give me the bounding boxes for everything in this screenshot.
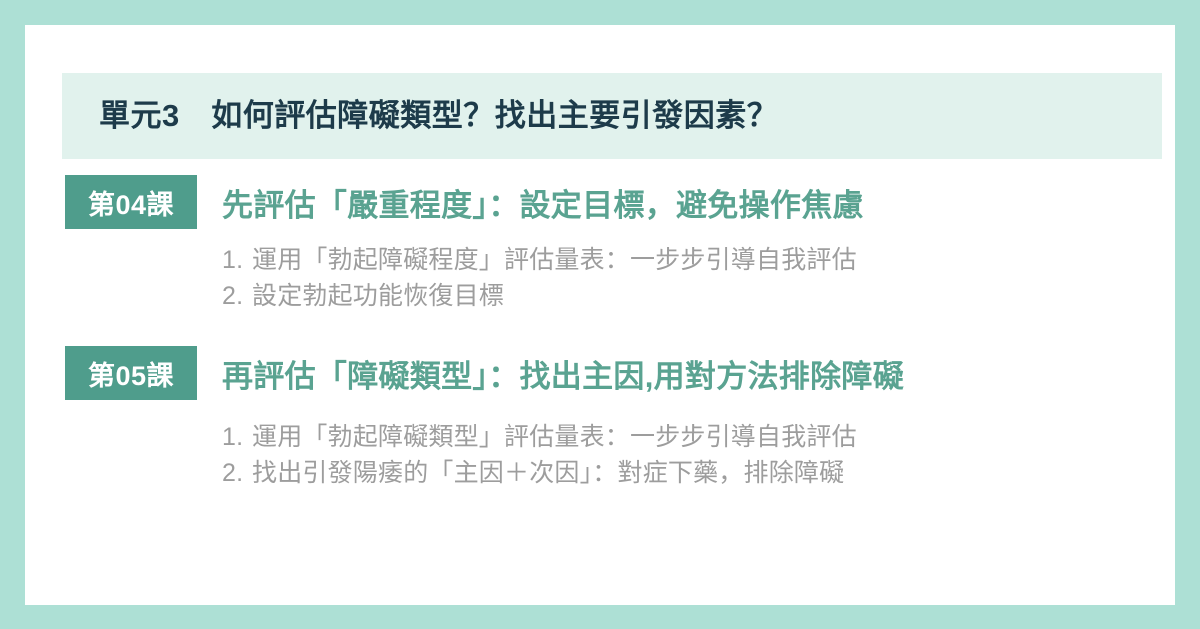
lesson-header-04: 第04課 先評估「嚴重程度」：設定目標，避免操作焦慮 <box>25 175 1175 229</box>
unit-header-band: 單元3 如何評估障礙類型？找出主要引發因素？ <box>62 73 1162 159</box>
lesson-header-05: 第05課 再評估「障礙類型」：找出主因,用對方法排除障礙 <box>25 346 1175 400</box>
list-item-text: 設定勃起功能恢復目標 <box>252 282 504 310</box>
page-title: 單元3 如何評估障礙類型？找出主要引發因素？ <box>62 99 778 133</box>
content-card: 單元3 如何評估障礙類型？找出主要引發因素？ 第04課 先評估「嚴重程度」：設定… <box>25 25 1175 605</box>
list-item-number: 2. <box>222 456 252 492</box>
list-item-number: 1. <box>222 420 252 456</box>
list-item: 1.運用「勃起障礙類型」評估量表：一步步引導自我評估 <box>222 420 1175 456</box>
list-item-text: 運用「勃起障礙類型」評估量表：一步步引導自我評估 <box>252 423 857 451</box>
lesson-block-05: 第05課 再評估「障礙類型」：找出主因,用對方法排除障礙 1.運用「勃起障礙類型… <box>25 346 1175 491</box>
page-frame: 單元3 如何評估障礙類型？找出主要引發因素？ 第04課 先評估「嚴重程度」：設定… <box>0 0 1200 629</box>
list-item: 2.設定勃起功能恢復目標 <box>222 279 1175 315</box>
lesson-badge-05[interactable]: 第05課 <box>65 346 197 400</box>
lesson-badge-04[interactable]: 第04課 <box>65 175 197 229</box>
list-item: 2.找出引發陽痿的「主因＋次因」：對症下藥，排除障礙 <box>222 456 1175 492</box>
list-item: 1.運用「勃起障礙程度」評估量表：一步步引導自我評估 <box>222 243 1175 279</box>
lesson-block-04: 第04課 先評估「嚴重程度」：設定目標，避免操作焦慮 1.運用「勃起障礙程度」評… <box>25 175 1175 314</box>
list-item-number: 1. <box>222 243 252 279</box>
list-item-text: 運用「勃起障礙程度」評估量表：一步步引導自我評估 <box>252 246 857 274</box>
lesson-title-05[interactable]: 再評估「障礙類型」：找出主因,用對方法排除障礙 <box>222 351 904 396</box>
list-item-text: 找出引發陽痿的「主因＋次因」：對症下藥，排除障礙 <box>252 459 844 487</box>
lesson-title-04[interactable]: 先評估「嚴重程度」：設定目標，避免操作焦慮 <box>222 180 864 225</box>
lesson-list: 第04課 先評估「嚴重程度」：設定目標，避免操作焦慮 1.運用「勃起障礙程度」評… <box>25 175 1175 491</box>
lesson-items-05: 1.運用「勃起障礙類型」評估量表：一步步引導自我評估 2.找出引發陽痿的「主因＋… <box>25 420 1175 491</box>
list-item-number: 2. <box>222 279 252 315</box>
lesson-items-04: 1.運用「勃起障礙程度」評估量表：一步步引導自我評估 2.設定勃起功能恢復目標 <box>25 243 1175 314</box>
